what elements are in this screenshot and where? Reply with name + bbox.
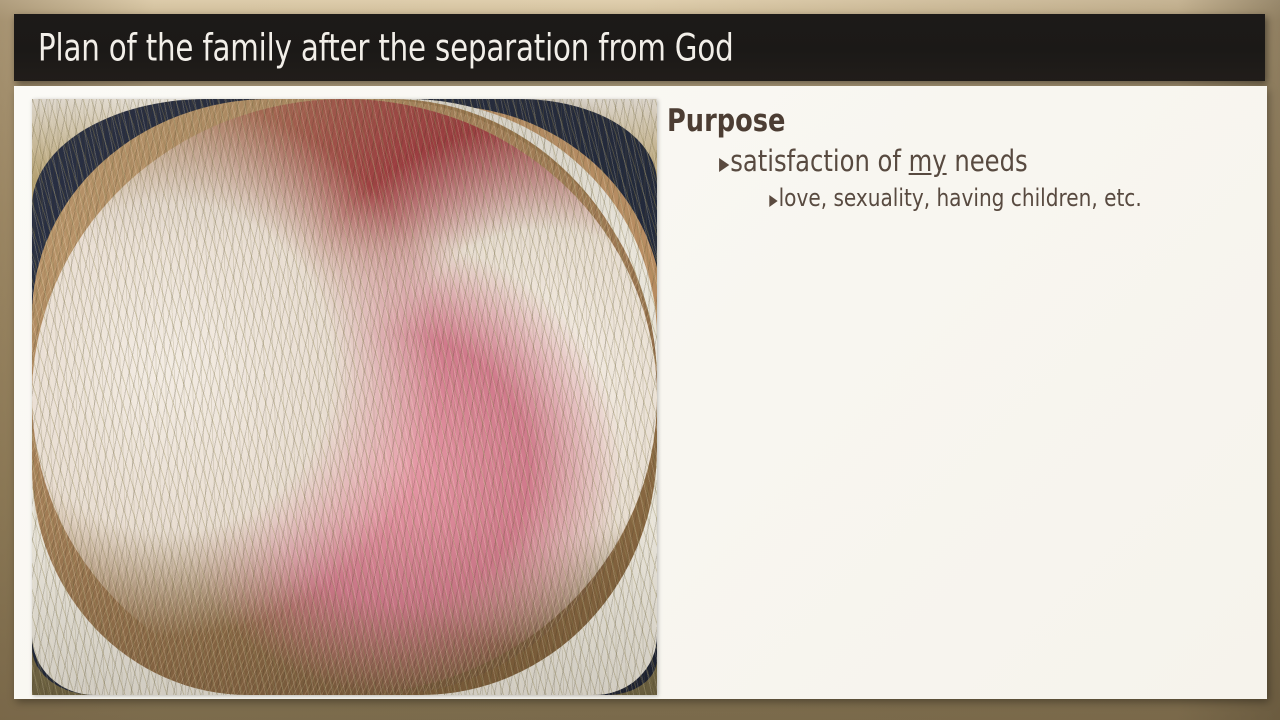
bullet-level1-emphasis: my [909,144,947,178]
triangle-bullet-icon [719,158,729,172]
content-heading: Purpose [667,104,1191,138]
wedding-couple-photo [32,99,657,695]
photo-color-grade [32,99,657,695]
slide-title-bar: Plan of the family after the separation … [14,14,1265,81]
triangle-bullet-icon [769,195,777,207]
bullet-level1: satisfaction of my needs [667,144,1197,178]
bullet-level2: love, sexuality, having children, etc. [667,184,1197,212]
bullet-level1-suffix: needs [947,144,1028,178]
slide-title: Plan of the family after the separation … [38,26,734,69]
slide-text-block: Purpose satisfaction of my needs love, s… [667,104,1237,213]
slide-frame: Plan of the family after the separation … [0,0,1280,720]
bullet-level1-prefix: satisfaction of [730,144,908,178]
bullet-level2-text: love, sexuality, having children, etc. [779,184,1142,212]
slide-content-panel: Purpose satisfaction of my needs love, s… [14,86,1267,699]
